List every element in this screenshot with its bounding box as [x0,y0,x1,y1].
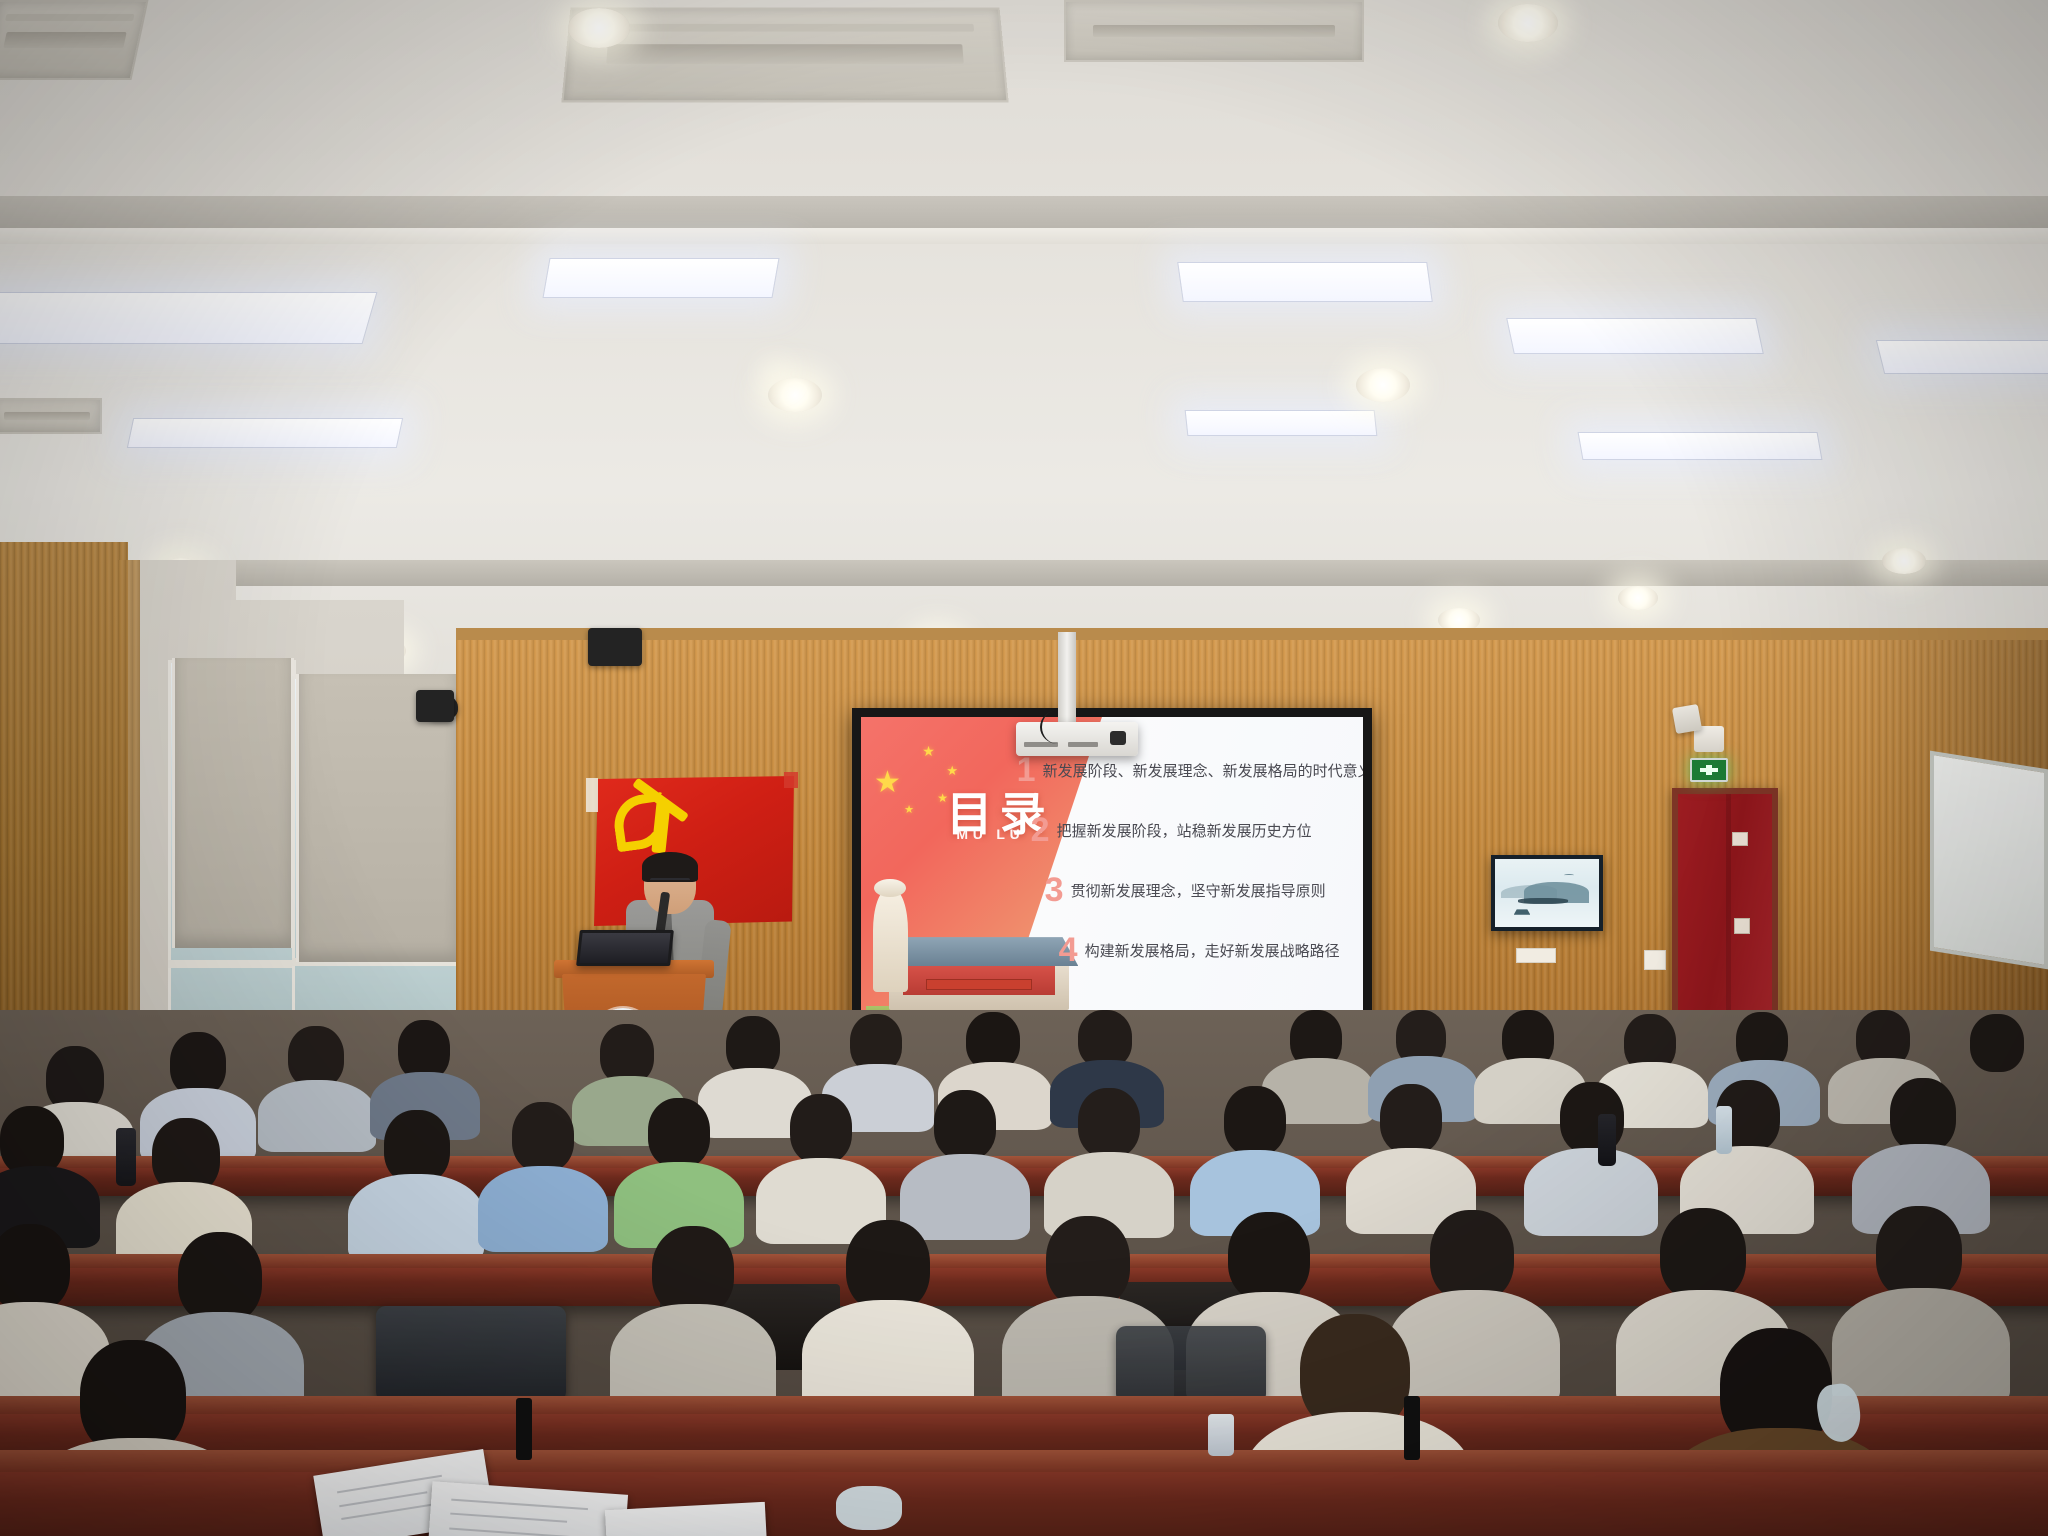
toc-item: 2 把握新发展阶段，站稳新发展历史方位 [1031,813,1348,847]
ceiling-soffit-lower [0,228,2048,244]
painting-boat [1514,909,1531,914]
water-bottle [1598,1114,1616,1166]
student-shoulders [900,1154,1030,1240]
toc-item: 4 构建新发展格局，走好新发展战略路径 [1059,933,1348,967]
slide-title-pinyin: MU LU [956,826,1024,842]
desk-row-d-front [0,1462,2048,1536]
student-head [1430,1210,1514,1302]
projector-lens [1110,731,1126,745]
projection-screen: ★ ★ ★ ★ ★ 目录 MU LU 1 新发展阶段、新发展理念 [852,708,1372,1030]
hvac-vent-3 [1064,0,1364,62]
audience-area [0,1010,2048,1536]
student-shoulders [348,1174,484,1262]
downlight-4 [1356,368,1410,402]
ceiling-speaker-left [588,628,642,666]
star-icon-2: ★ [922,744,935,758]
led-panel-light-5 [1876,340,2048,374]
hvac-vent-5 [0,398,102,434]
student-head [1876,1206,1962,1300]
student-head [170,1032,226,1096]
paper-text-line [449,1527,594,1536]
door-leaf-divider [1726,794,1731,1034]
flag-tape-left [586,778,598,812]
toc-text: 构建新发展格局，走好新发展战略路径 [1085,940,1340,961]
ceiling-speaker-left-2 [416,690,454,722]
gate-column-top [874,879,906,897]
water-bottle [116,1128,136,1186]
star-icon-1: ★ [874,768,901,798]
student-head [600,1024,654,1084]
student-head [790,1094,852,1164]
student-head [0,1224,70,1312]
projector-cable [1040,710,1076,744]
wall-switch-plate[interactable] [1644,950,1666,970]
led-panel-light-3 [1177,262,1433,302]
window-mullion-1 [168,960,296,968]
student-shoulders [478,1166,608,1252]
laptop-screen [579,933,670,963]
painting-island [1518,898,1568,903]
student-head [178,1232,262,1324]
toc-text: 新发展阶段、新发展理念、新发展格局的时代意义 [1043,760,1363,781]
student-head [1078,1088,1140,1158]
backpack [376,1306,566,1402]
painting-artwork [1495,859,1599,927]
ceiling-soffit-upper [0,196,2048,230]
water-bottle [1208,1414,1234,1456]
led-panel-light-4 [1506,318,1764,354]
student-head [1046,1216,1130,1308]
student-shoulders [1524,1148,1658,1236]
student-head [726,1016,780,1076]
student-shoulders [258,1080,376,1152]
hammer-and-sickle-emblem [614,791,706,860]
toc-number: 2 [1031,813,1050,847]
led-panel-light-7 [1578,432,1823,460]
student-head [398,1020,450,1080]
emergency-exit-door[interactable] [1672,788,1778,1040]
ceiling-beam-front [0,560,2048,586]
wall-speaker-right [1672,704,1702,734]
star-icon-3: ★ [946,764,958,777]
student-shoulders [1388,1290,1560,1408]
projector-vent [1068,742,1098,747]
lecture-hall-photo: ★ ★ ★ ★ ★ 目录 MU LU 1 新发展阶段、新发展理念 [0,0,2048,1536]
stage-wall-top-trim [456,628,2048,640]
downlight-11 [1882,548,1926,574]
toc-number: 4 [1059,933,1078,967]
gate-plaque [926,979,1032,990]
downlight-2 [1498,4,1558,42]
painting-birds [1564,874,1574,877]
student-head [1660,1208,1746,1302]
ink-landscape-painting [1491,855,1603,931]
student-head [1228,1212,1310,1302]
toc-item: 1 新发展阶段、新发展理念、新发展格局的时代意义 [1017,753,1348,787]
flag-tape-right [784,772,798,788]
slide-toc-list: 1 新发展阶段、新发展理念、新发展格局的时代意义 2 把握新发展阶段，站稳新发展… [1017,753,1348,967]
presentation-slide: ★ ★ ★ ★ ★ 目录 MU LU 1 新发展阶段、新发展理念 [861,717,1363,1021]
student-head [512,1102,574,1172]
toc-number: 3 [1045,873,1064,907]
student-head [1890,1078,1956,1152]
paper-text-line [451,1498,588,1510]
downlight-1 [568,8,630,48]
student-shoulders [1832,1288,2010,1408]
exit-cross-icon [1699,764,1719,776]
paper-text-line [450,1513,567,1523]
door-push-plate-upper[interactable] [1732,832,1748,846]
toc-number: 1 [1017,753,1036,787]
toc-item: 3 贯彻新发展理念，坚守新发展指导原则 [1045,873,1348,907]
student-head [1224,1086,1286,1156]
speaker-glasses [650,878,690,885]
student-head [652,1226,734,1316]
student-head [288,1026,344,1088]
painting-caption-plaque [1516,948,1556,963]
paper-text-line [339,1491,428,1507]
water-bottle [1716,1106,1732,1154]
student-head [934,1090,996,1160]
lectern-laptop[interactable] [576,930,674,966]
face-mask [836,1486,902,1530]
downlight-3 [768,378,822,412]
gate-column [873,890,908,992]
led-panel-light-2 [542,258,779,298]
toc-text: 贯彻新发展理念，坚守新发展指导原则 [1071,880,1326,901]
led-panel-light-6 [127,418,403,448]
student-head [846,1220,930,1312]
desk-bracket [1404,1396,1420,1460]
hvac-vent-1 [0,0,149,80]
desk-bracket [516,1398,532,1460]
student-head [384,1110,450,1184]
desk-top-row-d-front [0,1450,2048,1472]
downlight-10 [1618,586,1658,610]
student-head [1380,1084,1442,1154]
toc-text: 把握新发展阶段，站稳新发展历史方位 [1057,820,1312,841]
student-head [648,1098,710,1168]
led-panel-light-1 [0,292,377,344]
led-panel-light-8 [1185,410,1378,436]
emergency-exit-sign [1690,758,1728,782]
ceiling-projector [1016,722,1138,756]
whiteboard[interactable] [1930,751,2048,970]
door-push-plate-lower[interactable] [1734,918,1750,934]
star-icon-5: ★ [904,805,914,816]
backpack [1116,1326,1266,1404]
roller-blind-left[interactable] [172,658,294,948]
student-head [1970,1014,2024,1072]
